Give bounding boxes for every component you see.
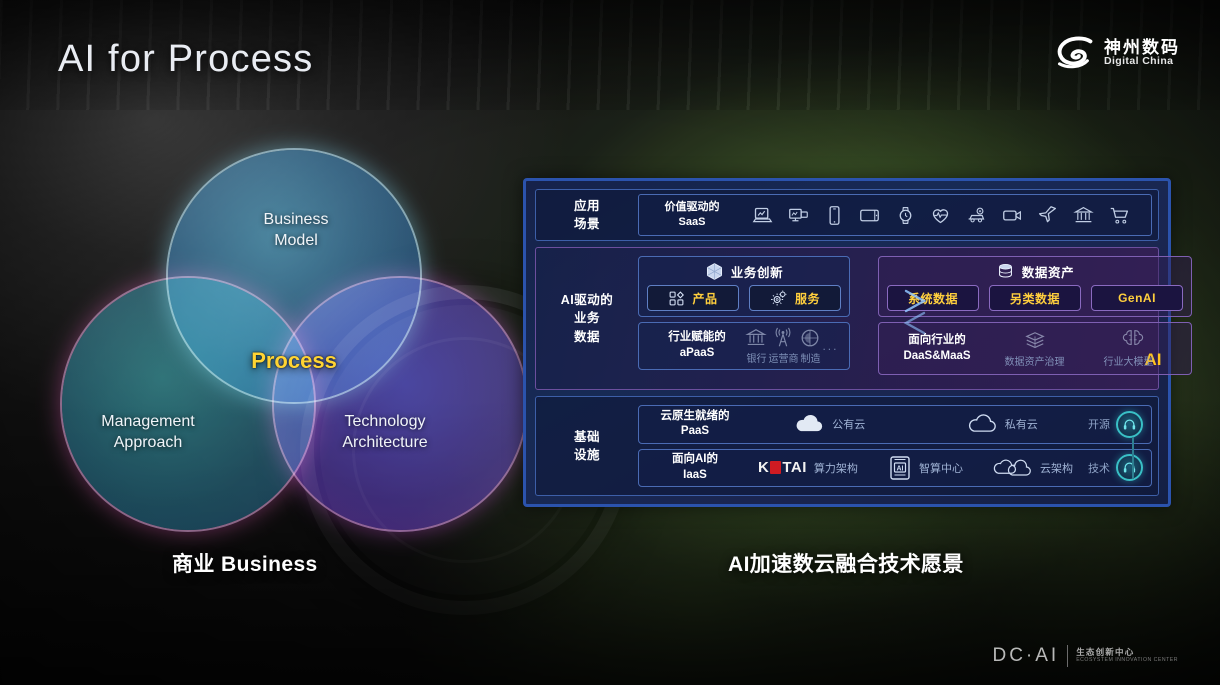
data-assets-label: 数据资产 <box>1022 262 1074 281</box>
data-assets-chips: 系统数据 另类数据 GenAI <box>887 285 1183 311</box>
chip-genai-label: GenAI <box>1118 291 1156 305</box>
middle-columns: 业务创新 产品 服务 <box>638 252 1192 385</box>
iaas-label: 面向AI的 IaaS <box>647 452 743 483</box>
apaas-caption-operator: 运营商 <box>768 350 798 365</box>
iaas-caption-cloud-architecture: 云架构 <box>1040 460 1073 476</box>
iaas-item-cloud-architecture: 云架构 <box>993 456 1073 480</box>
business-innovation-label: 业务创新 <box>731 262 783 281</box>
venn-center-label: Process <box>214 348 374 374</box>
column-business-innovation: 业务创新 产品 服务 <box>638 252 864 385</box>
column-data-assets: 数据资产 系统数据 另类数据 GenAI <box>864 252 1192 385</box>
iaas-tag-technology: 技术 <box>1088 454 1143 481</box>
apaas-caption-bank: 银行 <box>746 350 766 365</box>
shopping-cart-icon <box>1109 205 1130 226</box>
band-application-scenarios: 应用 场景 价值驱动的 SaaS <box>535 189 1159 241</box>
box-data-assets: 数据资产 系统数据 另类数据 GenAI <box>878 256 1192 317</box>
scenarios-label: 价值驱动的 SaaS <box>649 200 735 230</box>
blocks-icon <box>668 290 685 307</box>
daas-maas-items: 数据资产治理 行业大模型 AI <box>985 327 1181 370</box>
apaas-item-bank: 银行 <box>745 327 767 365</box>
kutai-logo-k: K <box>758 459 769 476</box>
scenario-icon-row <box>741 205 1141 226</box>
chip-system-data[interactable]: 系统数据 <box>887 285 979 311</box>
brand-logo: 神州数码 Digital China <box>1056 36 1180 70</box>
tag-connector-line <box>1132 437 1134 479</box>
box-daas-maas: 面向行业的 DaaS&MaaS 数据资产治理 行业大模型 <box>878 322 1192 375</box>
caption-ai-vision: AI加速数云融合技术愿景 <box>728 548 964 578</box>
daas-item-data-governance: 数据资产治理 <box>1005 330 1065 368</box>
architecture-panel: 应用 场景 价值驱动的 SaaS <box>523 178 1171 507</box>
chip-product-label: 产品 <box>692 290 717 307</box>
paas-tag-open-source: 开源 <box>1088 411 1143 438</box>
iaas-item-ai-computing-center: AI 智算中心 <box>888 455 963 481</box>
band-ai-driven-business-data: AI驱动的 业务 数据 业务创新 <box>535 247 1159 390</box>
daas-item-industry-model: 行业大模型 AI <box>1104 327 1162 370</box>
footer-logo-main: DC·AI <box>992 645 1059 667</box>
infrastructure-rows: 云原生就绪的 PaaS 公有云 私有云 开 <box>638 401 1152 491</box>
paas-label: 云原生就绪的 PaaS <box>647 409 743 440</box>
daas-caption-data-governance: 数据资产治理 <box>1005 353 1065 368</box>
desktop-monitor-icon <box>788 205 809 226</box>
band-infrastructure: 基础 设施 云原生就绪的 PaaS 公有云 私有云 <box>535 396 1159 496</box>
data-assets-head: 数据资产 <box>887 262 1183 281</box>
paas-item-public-cloud: 公有云 <box>793 413 865 435</box>
iaas-tag-caption: 技术 <box>1088 460 1110 476</box>
paas-tag-caption: 开源 <box>1088 416 1110 432</box>
chip-product[interactable]: 产品 <box>647 285 739 311</box>
headset-circle-icon <box>1116 454 1143 481</box>
footer-logo-divider <box>1067 645 1068 667</box>
kutai-logo: KTAI <box>758 459 807 476</box>
paas-item-private-cloud: 私有云 <box>966 413 1038 435</box>
caption-business: 商业 Business <box>172 548 318 578</box>
slide-canvas: AI for Process 神州数码 Digital China Busine… <box>0 0 1220 685</box>
chip-genai[interactable]: GenAI <box>1091 285 1183 311</box>
airplane-icon <box>1037 205 1058 226</box>
paas-items: 公有云 私有云 <box>743 413 1088 435</box>
box-business-innovation: 业务创新 产品 服务 <box>638 256 850 317</box>
laptop-analytics-icon <box>752 205 773 226</box>
headset-circle-icon <box>1116 411 1143 438</box>
venn-diagram: Business Model Management Approach Techn… <box>62 150 462 510</box>
brand-name-en: Digital China <box>1104 56 1180 67</box>
iaas-caption-ai-computing-center: 智算中心 <box>919 460 963 476</box>
footer-logo-en: ECOSYSTEM INNOVATION CENTER <box>1076 658 1178 664</box>
gears-icon <box>770 289 788 307</box>
venn-label-business-model: Business Model <box>212 210 380 252</box>
svg-text:AI: AI <box>896 465 903 472</box>
business-innovation-chips: 产品 服务 <box>647 285 841 311</box>
venn-label-technology-architecture: Technology Architecture <box>292 412 478 454</box>
cloud-outline-icon <box>966 413 998 435</box>
antenna-signal-icon <box>772 327 794 349</box>
brand-name-cn: 神州数码 <box>1104 39 1180 57</box>
tablet-icon <box>859 205 880 226</box>
footer-logo: DC·AI 生态创新中心 ECOSYSTEM INNOVATION CENTER <box>992 645 1178 667</box>
layered-data-icon <box>1024 330 1046 352</box>
band-title-infrastructure: 基础 设施 <box>536 397 638 495</box>
bank-icon <box>1073 205 1094 226</box>
database-icon <box>996 262 1015 281</box>
page-title: AI for Process <box>58 38 313 81</box>
apaas-item-operator: 运营商 <box>768 327 798 365</box>
chip-service-label: 服务 <box>795 290 820 307</box>
venn-circle-technology-architecture <box>274 278 526 530</box>
business-innovation-head: 业务创新 <box>647 262 841 281</box>
smartwatch-icon <box>895 205 916 226</box>
band-title-application-scenarios: 应用 场景 <box>536 190 638 240</box>
iaas-item-compute-architecture: KTAI 算力架构 <box>758 459 858 476</box>
cloud-filled-icon <box>793 413 825 435</box>
spiral-logo-icon <box>1056 36 1094 70</box>
scenarios-box: 价值驱动的 SaaS <box>638 194 1152 236</box>
multi-cloud-icon <box>993 456 1033 480</box>
cube-mesh-icon <box>705 262 724 281</box>
brain-circuit-icon <box>1122 327 1144 349</box>
paas-caption-private-cloud: 私有云 <box>1005 416 1038 432</box>
heartbeat-icon <box>930 205 951 226</box>
smartphone-icon <box>824 205 845 226</box>
box-apaas: 行业赋能的 aPaaS 银行 运营商 <box>638 322 850 370</box>
venn-label-management-approach: Management Approach <box>58 412 238 454</box>
apaas-items: 银行 运营商 制造 ... <box>745 327 839 365</box>
chip-system-data-label: 系统数据 <box>908 290 958 307</box>
paas-caption-public-cloud: 公有云 <box>832 416 865 432</box>
chip-alternative-data-label: 另类数据 <box>1010 290 1060 307</box>
ai-server-icon: AI <box>888 455 912 481</box>
daas-caption-industry-model: 行业大模型 <box>1104 353 1154 368</box>
daas-maas-label: 面向行业的 DaaS&MaaS <box>889 333 985 364</box>
iaas-items: KTAI 算力架构 AI 智算中心 云架构 <box>743 455 1088 481</box>
video-camera-icon <box>1002 205 1023 226</box>
bank-icon <box>745 327 767 349</box>
band-title-ai-driven-business-data: AI驱动的 业务 数据 <box>536 248 638 389</box>
iaas-caption-compute-architecture: 算力架构 <box>814 460 858 476</box>
apaas-item-manufacturing: 制造 <box>799 327 821 365</box>
chip-alternative-data[interactable]: 另类数据 <box>989 285 1081 311</box>
apaas-caption-manufacturing: 制造 <box>800 350 820 365</box>
apaas-label: 行业赋能的 aPaaS <box>649 330 745 361</box>
kutai-logo-block <box>770 461 781 474</box>
factory-gear-icon <box>799 327 821 349</box>
apaas-ellipsis: ... <box>822 339 838 353</box>
infra-row-iaas: 面向AI的 IaaS KTAI 算力架构 AI 智算中心 <box>638 449 1152 488</box>
chip-service[interactable]: 服务 <box>749 285 841 311</box>
infra-row-paas: 云原生就绪的 PaaS 公有云 私有云 开 <box>638 405 1152 444</box>
car-icon <box>966 205 987 226</box>
kutai-logo-tai: TAI <box>782 459 807 476</box>
